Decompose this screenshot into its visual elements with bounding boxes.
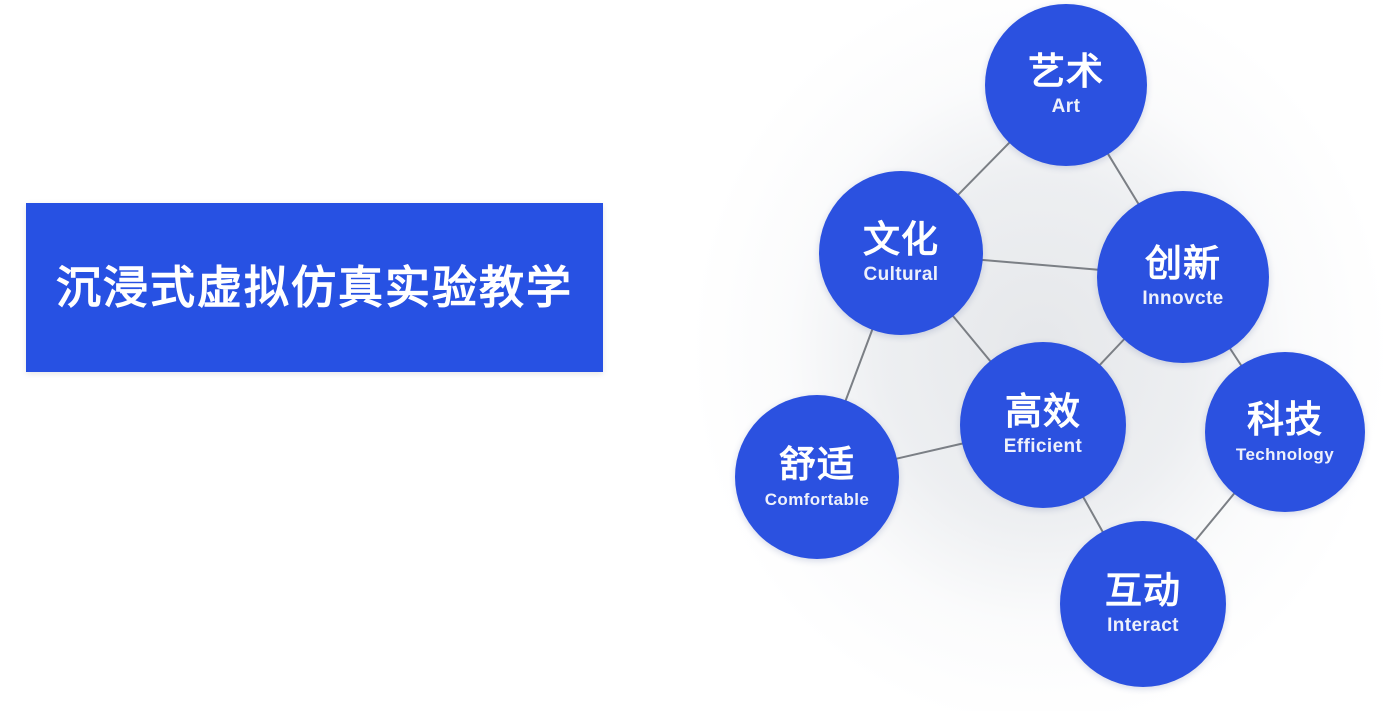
connector-cultural-to-efficient bbox=[953, 315, 991, 361]
node-art[interactable]: 艺术Art bbox=[985, 4, 1147, 166]
node-efficient-label-cn: 高效 bbox=[1005, 391, 1081, 432]
node-cultural[interactable]: 文化Cultural bbox=[819, 171, 983, 335]
connector-innovate-to-technology bbox=[1230, 348, 1242, 366]
connector-efficient-to-interact bbox=[1083, 497, 1103, 533]
node-efficient-label-en: Efficient bbox=[1004, 435, 1083, 459]
connector-cultural-to-innovate bbox=[982, 260, 1099, 270]
node-innovate-label-cn: 创新 bbox=[1145, 243, 1221, 284]
connector-technology-to-interact bbox=[1195, 493, 1234, 541]
node-art-label-cn: 艺术 bbox=[1028, 51, 1104, 92]
node-comfortable-label-en: Comfortable bbox=[765, 489, 870, 510]
node-art-label-en: Art bbox=[1052, 95, 1081, 119]
connector-art-to-cultural bbox=[958, 142, 1010, 195]
node-innovate-label-en: Innovcte bbox=[1142, 287, 1223, 311]
connector-cultural-to-comfortable bbox=[845, 329, 872, 401]
slide-canvas: 沉浸式虚拟仿真实验教学 艺术Art文化Cultural创新Innovcte科技T… bbox=[0, 0, 1392, 711]
connector-art-to-innovate bbox=[1108, 153, 1139, 204]
node-innovate[interactable]: 创新Innovcte bbox=[1097, 191, 1269, 363]
node-cultural-label-en: Cultural bbox=[864, 263, 939, 287]
node-cultural-label-cn: 文化 bbox=[863, 219, 939, 260]
node-comfortable[interactable]: 舒适Comfortable bbox=[735, 395, 899, 559]
node-efficient[interactable]: 高效Efficient bbox=[960, 342, 1126, 508]
node-technology[interactable]: 科技Technology bbox=[1205, 352, 1365, 512]
node-interact-label-cn: 互动 bbox=[1105, 570, 1181, 611]
node-technology-label-en: Technology bbox=[1236, 444, 1334, 465]
node-technology-label-cn: 科技 bbox=[1247, 399, 1323, 440]
node-interact-label-en: Interact bbox=[1107, 614, 1179, 638]
connector-innovate-to-efficient bbox=[1099, 339, 1124, 366]
node-comfortable-label-cn: 舒适 bbox=[779, 444, 855, 485]
connector-comfortable-to-efficient bbox=[896, 443, 963, 458]
node-interact[interactable]: 互动Interact bbox=[1060, 521, 1226, 687]
